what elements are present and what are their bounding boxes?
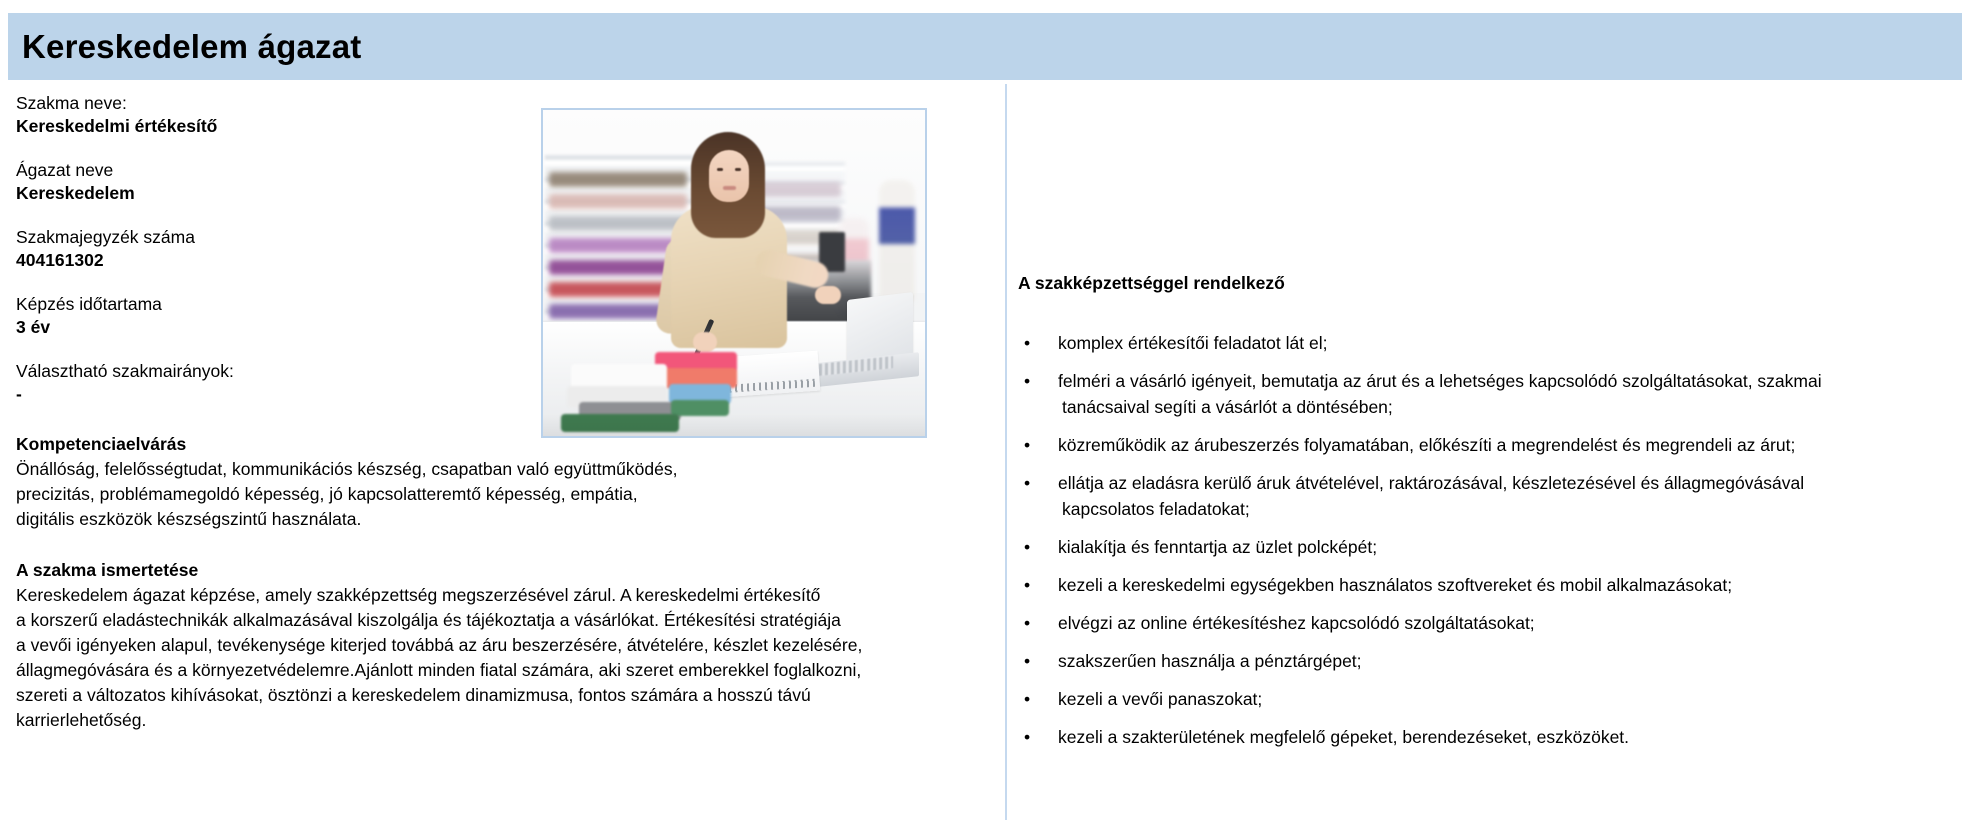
bullet-dot-icon: • — [1024, 330, 1030, 356]
photo-person-mouth — [723, 186, 736, 190]
list-item: • elvégzi az online értékesítéshez kapcs… — [1018, 610, 1966, 636]
list-item: • közreműködik az árubeszerzés folyamatá… — [1018, 432, 1966, 458]
list-item-line: kialakítja és fenntartja az üzlet polcké… — [1058, 534, 1966, 560]
photo-shelf-row — [549, 194, 687, 209]
description-heading: A szakma ismertetése — [16, 558, 991, 582]
list-item-line: komplex értékesítői feladatot lát el; — [1058, 330, 1966, 356]
list-item-line: felméri a vásárló igényeit, bemutatja az… — [1058, 368, 1966, 394]
list-item: • kezeli a szakterületének megfelelő gép… — [1018, 724, 1966, 750]
bullet-dot-icon: • — [1024, 648, 1030, 674]
photo-person-eye — [717, 168, 723, 171]
description-line: Kereskedelem ágazat képzése, amely szakk… — [16, 583, 991, 608]
bullet-dot-icon: • — [1024, 470, 1030, 496]
list-item: • felméri a vásárló igényeit, bemutatja … — [1018, 368, 1966, 420]
photo-person-face — [709, 150, 749, 202]
column-divider — [1005, 84, 1007, 820]
bullet-dot-icon: • — [1024, 368, 1030, 394]
qualification-bullet-list: • komplex értékesítői feladatot lát el; … — [1018, 330, 1966, 762]
list-item: • kezeli a vevői panaszokat; — [1018, 686, 1966, 712]
page-title: Kereskedelem ágazat — [22, 30, 362, 63]
competency-line: digitális eszközök készségszintű használ… — [16, 507, 991, 532]
competency-line: Önállóság, felelősségtudat, kommunikáció… — [16, 457, 991, 482]
photo-person-left-hand — [693, 332, 717, 352]
photo-shelf-row — [757, 182, 841, 197]
description-line: a korszerű eladástechnikák alkalmazásáva… — [16, 608, 991, 633]
list-item-line: kezeli a vevői panaszokat; — [1058, 686, 1966, 712]
competency-line: precizitás, problémamegoldó képesség, jó… — [16, 482, 991, 507]
list-item-line: kezeli a szakterületének megfelelő gépek… — [1058, 724, 1966, 750]
bullet-dot-icon: • — [1024, 724, 1030, 750]
photo-bottom-shadow — [543, 414, 925, 436]
list-item: • ellátja az eladásra kerülő áruk átvéte… — [1018, 470, 1966, 522]
bullet-dot-icon: • — [1024, 572, 1030, 598]
competency-section: Kompetenciaelvárás Önállóság, felelősség… — [16, 432, 991, 532]
bullet-dot-icon: • — [1024, 610, 1030, 636]
photo-shelf-row — [549, 216, 687, 231]
list-item-line: közreműködik az árubeszerzés folyamatába… — [1058, 432, 1966, 458]
description-line: karrierlehetőség. — [16, 708, 991, 733]
photo-person-right-hand — [815, 286, 841, 304]
photo-canvas — [543, 110, 925, 436]
description-body: Kereskedelem ágazat képzése, amely szakk… — [16, 583, 991, 733]
description-line: állagmegóvására és a környezetvédelemre.… — [16, 658, 991, 683]
qualification-heading: A szakképzettséggel rendelkező — [1018, 272, 1285, 294]
description-line: a vevői igényeken alapul, tevékenysége k… — [16, 633, 991, 658]
description-section: A szakma ismertetése Kereskedelem ágazat… — [16, 558, 991, 733]
list-item-line: ellátja az eladásra kerülő áruk átvételé… — [1058, 470, 1966, 496]
photo-person-eye — [735, 168, 741, 171]
bullet-dot-icon: • — [1024, 686, 1030, 712]
photo-shelf-row — [549, 172, 687, 187]
page-header-banner: Kereskedelem ágazat — [8, 13, 1962, 80]
bullet-dot-icon: • — [1024, 432, 1030, 458]
photo-mannequin-blue — [879, 180, 915, 302]
list-item-line: elvégzi az online értékesítéshez kapcsol… — [1058, 610, 1966, 636]
list-item-line: szakszerűen használja a pénztárgépet; — [1058, 648, 1966, 674]
list-item-line: tanácsaival segíti a vásárlót a döntéséb… — [1058, 394, 1966, 420]
list-item: • kialakítja és fenntartja az üzlet polc… — [1018, 534, 1966, 560]
list-item: • komplex értékesítői feladatot lát el; — [1018, 330, 1966, 356]
description-line: szereti a változatos kihívásokat, ösztön… — [16, 683, 991, 708]
list-item-line: kezeli a kereskedelmi egységekben haszná… — [1058, 572, 1966, 598]
competency-body: Önállóság, felelősségtudat, kommunikáció… — [16, 457, 991, 532]
bullet-dot-icon: • — [1024, 534, 1030, 560]
list-item-line: kapcsolatos feladatokat; — [1058, 496, 1966, 522]
list-item: • szakszerűen használja a pénztárgépet; — [1018, 648, 1966, 674]
shop-assistant-photo — [541, 108, 927, 438]
list-item: • kezeli a kereskedelmi egységekben hasz… — [1018, 572, 1966, 598]
